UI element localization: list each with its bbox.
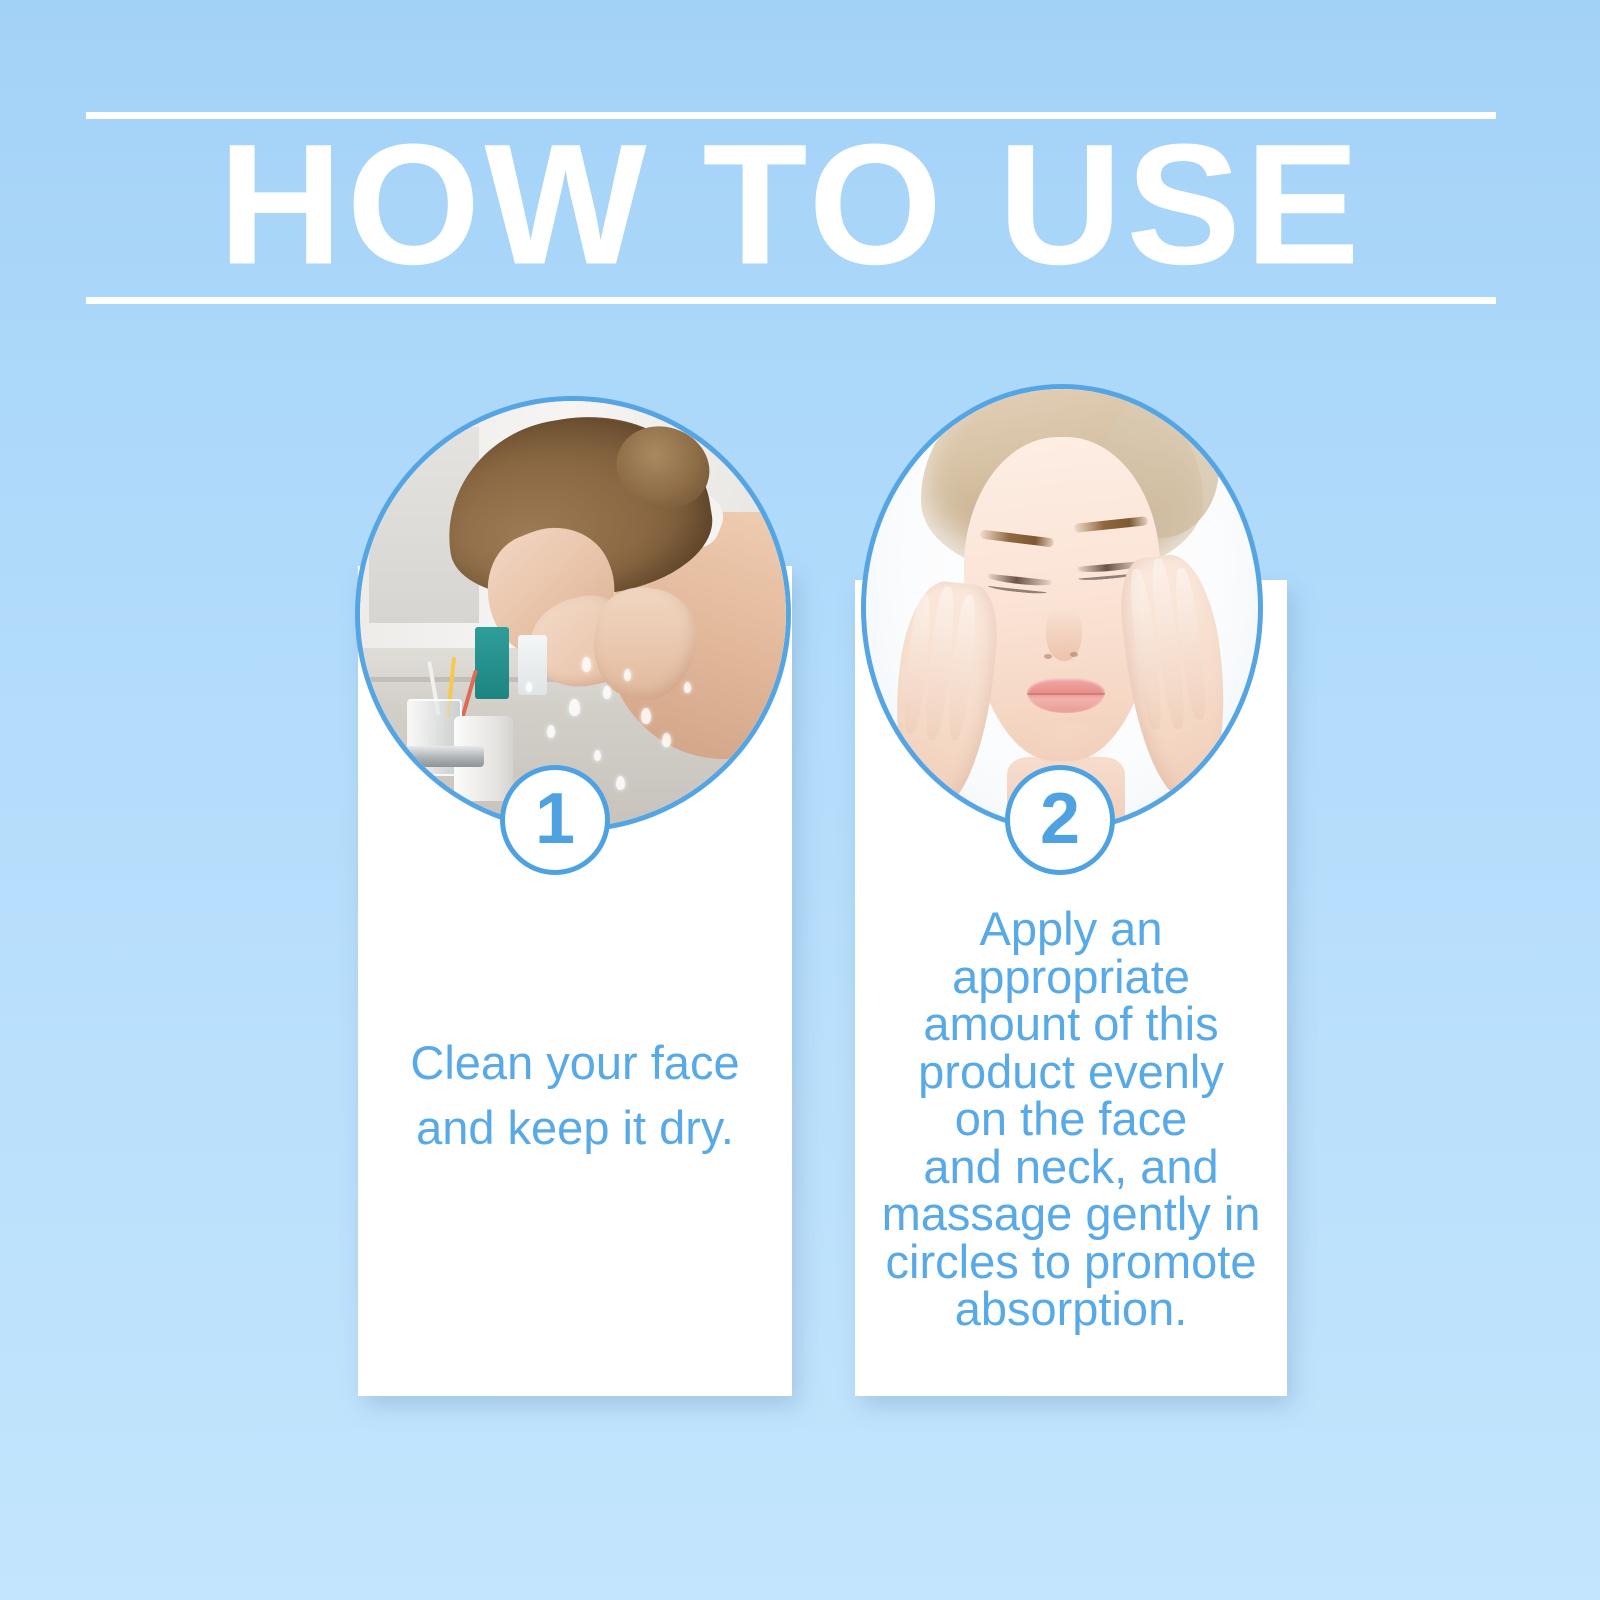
water-drop bbox=[684, 682, 691, 693]
steps-container: 1 Clean your face and keep it dry. bbox=[0, 0, 1600, 1600]
water-drop bbox=[569, 699, 580, 716]
water-drop bbox=[603, 686, 611, 699]
right-nostril bbox=[1070, 652, 1078, 657]
washing-face-photo bbox=[355, 396, 791, 832]
faucet-neck bbox=[373, 755, 394, 806]
step-badge-2: 2 bbox=[1005, 765, 1115, 875]
water-drop bbox=[641, 708, 651, 724]
step-badge-1: 1 bbox=[500, 765, 610, 875]
water-drop bbox=[582, 657, 591, 672]
water-drop bbox=[526, 682, 532, 692]
step-caption-1: Clean your face and keep it dry. bbox=[368, 1030, 782, 1160]
teal-bottle bbox=[475, 627, 509, 699]
step-number-2: 2 bbox=[1040, 783, 1080, 855]
step-number-1: 1 bbox=[535, 783, 575, 855]
step-caption-2: Apply an appropriate amount of this prod… bbox=[862, 905, 1280, 1333]
water-drop bbox=[616, 776, 625, 790]
washing-face-photo-inner bbox=[360, 401, 786, 827]
white-bottle bbox=[518, 635, 548, 695]
massaging-face-photo-inner bbox=[866, 389, 1258, 827]
